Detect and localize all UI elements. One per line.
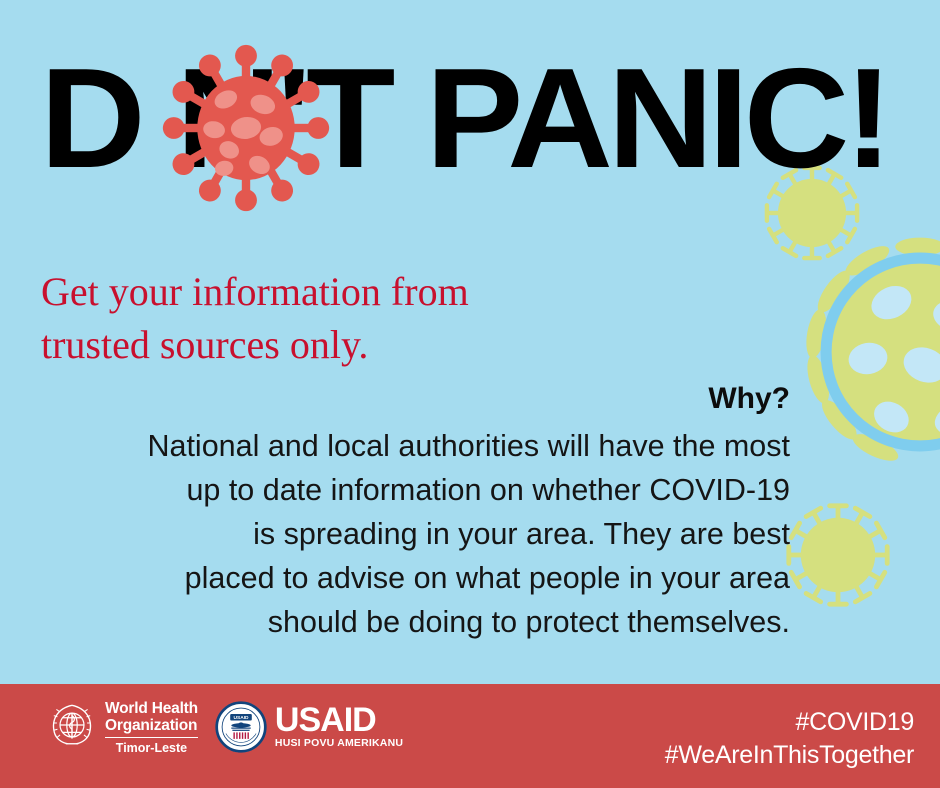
hashtag-covid19: #COVID19 [665, 706, 914, 739]
subtitle: Get your information from trusted source… [41, 265, 661, 371]
hashtag-group: #COVID19 #WeAreInThisTogether [665, 706, 914, 772]
body-line-2: up to date information on whether COVID-… [60, 468, 790, 512]
body-line-1: National and local authorities will have… [60, 424, 790, 468]
who-country-label: Timor-Leste [105, 741, 198, 755]
who-line-1: World Health [105, 700, 198, 717]
who-logo: World Health Organization Timor-Leste [46, 698, 198, 755]
virus-particle-green-small-bottom [778, 495, 898, 615]
body-line-5: should be doing to protect themselves. [60, 600, 790, 644]
who-wordmark: World Health Organization Timor-Leste [105, 698, 198, 755]
who-emblem-icon [46, 698, 98, 750]
footer-bar: World Health Organization Timor-Leste US… [0, 684, 940, 788]
coronavirus-icon-red [162, 44, 330, 212]
body-paragraph: National and local authorities will have… [60, 424, 790, 644]
why-label: Why? [300, 382, 790, 416]
headline: D N'T PANIC! [40, 48, 920, 193]
usaid-tagline: HUSI POVU AMERIKANU [275, 737, 403, 750]
usaid-logo: USAID [214, 700, 403, 754]
hashtag-weareinthistogether: #WeAreInThisTogether [665, 739, 914, 772]
virus-particle-green-large [790, 222, 940, 482]
body-line-4: placed to advise on what people in your … [60, 556, 790, 600]
poster-canvas: D N'T PANIC! [0, 0, 940, 788]
who-divider [105, 737, 198, 738]
usaid-seal-text: USAID [233, 715, 249, 721]
usaid-wordmark: USAID HUSI POVU AMERIKANU [275, 703, 403, 750]
usaid-word: USAID [275, 703, 403, 737]
logo-group: World Health Organization Timor-Leste US… [46, 698, 403, 755]
who-line-2: Organization [105, 717, 198, 734]
subtitle-line-1: Get your information from [41, 265, 661, 318]
usaid-seal-icon: USAID [214, 700, 268, 754]
body-line-3: is spreading in your area. They are best [60, 512, 790, 556]
subtitle-line-2: trusted sources only. [41, 318, 661, 371]
